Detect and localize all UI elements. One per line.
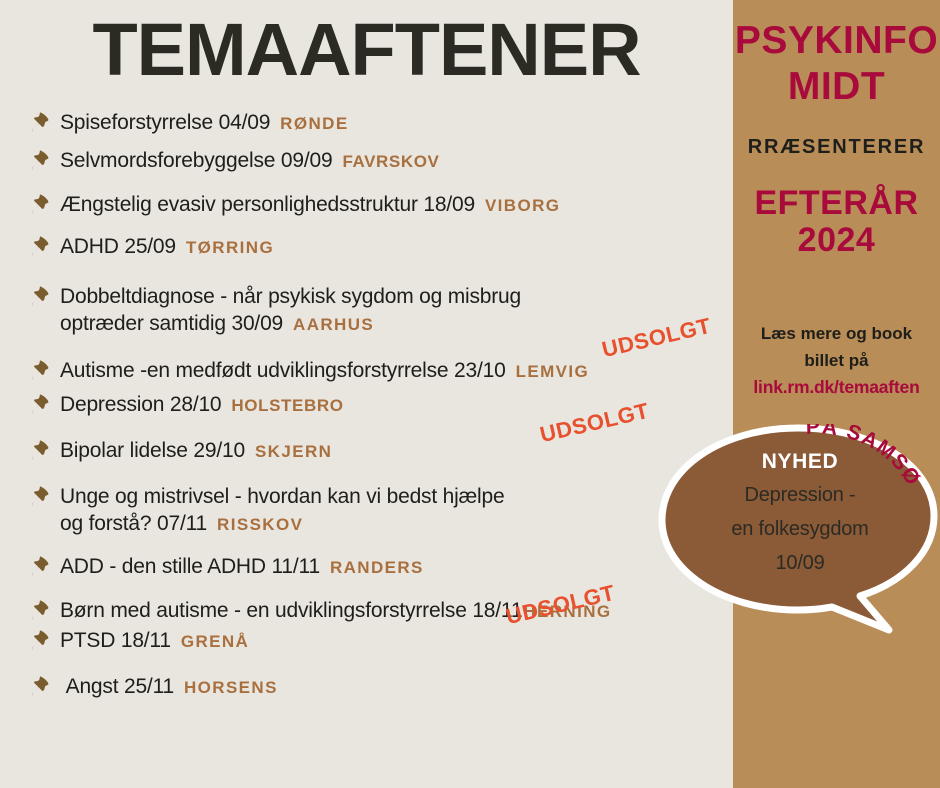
pushpin-icon bbox=[26, 554, 52, 580]
event-title: Autisme -en medfødt udviklingsforstyrrel… bbox=[60, 356, 589, 385]
pushpin-icon bbox=[26, 438, 52, 464]
event-title: ADD - den stille ADHD 11/11RANDERS bbox=[60, 552, 424, 581]
event-city: RØNDE bbox=[280, 114, 348, 133]
event-city: LEMVIG bbox=[516, 362, 590, 381]
event-city: RANDERS bbox=[330, 558, 424, 577]
pushpin-icon bbox=[26, 484, 52, 510]
pushpin-icon bbox=[26, 358, 52, 384]
pushpin-icon bbox=[26, 392, 52, 418]
event-row: Spiseforstyrrelse 04/09RØNDE bbox=[26, 108, 738, 138]
event-city: AARHUS bbox=[293, 315, 374, 334]
event-title: Selvmordsforebyggelse 09/09FAVRSKOV bbox=[60, 146, 440, 175]
pushpin-icon bbox=[26, 628, 52, 654]
event-row: Autisme -en medfødt udviklingsforstyrrel… bbox=[26, 356, 738, 386]
event-city: HOLSTEBRO bbox=[231, 396, 343, 415]
pushpin-icon bbox=[26, 192, 52, 218]
pushpin-icon bbox=[26, 598, 52, 624]
pushpin-icon bbox=[26, 674, 52, 700]
pushpin-icon bbox=[26, 192, 52, 218]
pushpin-icon bbox=[26, 148, 52, 174]
bubble-line-2: en folkesygdom bbox=[694, 512, 906, 546]
pushpin-icon bbox=[26, 284, 52, 310]
event-title: Bipolar lidelse 29/10SKJERN bbox=[60, 436, 332, 465]
booking-link[interactable]: link.rm.dk/temaaften bbox=[741, 374, 932, 401]
page-title: TEMAAFTENER bbox=[0, 8, 733, 92]
pushpin-icon bbox=[26, 148, 52, 174]
bubble-line-3: 10/09 bbox=[694, 546, 906, 580]
season-line-1: EFTERÅR bbox=[733, 185, 940, 222]
event-row: Børn med autisme - en udviklingsforstyrr… bbox=[26, 596, 738, 626]
presents-label: RRÆSENTERER bbox=[733, 136, 940, 159]
event-city: FAVRSKOV bbox=[342, 152, 439, 171]
pushpin-icon bbox=[26, 234, 52, 260]
event-title: Ængstelig evasiv personlighedsstruktur 1… bbox=[60, 190, 560, 219]
pushpin-icon bbox=[26, 392, 52, 418]
event-city: GRENÅ bbox=[181, 632, 249, 651]
booking-info: Læs mere og book billet på link.rm.dk/te… bbox=[741, 320, 932, 401]
brand-name-line-1: PSYKINFO bbox=[733, 20, 940, 62]
pushpin-icon bbox=[26, 438, 52, 464]
event-row: Bipolar lidelse 29/10SKJERN bbox=[26, 436, 738, 466]
booking-line-2: billet på bbox=[804, 351, 868, 370]
sidebar-panel: PSYKINFO MIDT RRÆSENTERER EFTERÅR 2024 L… bbox=[733, 0, 940, 788]
event-row: Unge og mistrivsel - hvordan kan vi beds… bbox=[26, 482, 738, 538]
event-title: Spiseforstyrrelse 04/09RØNDE bbox=[60, 108, 349, 137]
event-city: HORSENS bbox=[184, 678, 278, 697]
event-title: ADHD 25/09TØRRING bbox=[60, 232, 274, 261]
event-city: TØRRING bbox=[186, 238, 274, 257]
pushpin-icon bbox=[26, 628, 52, 654]
event-title: PTSD 18/11GRENÅ bbox=[60, 626, 249, 655]
event-title: Angst 25/11HORSENS bbox=[60, 672, 278, 701]
pushpin-icon bbox=[26, 110, 52, 136]
paa-samsoe-arc-label: PÅ SAMSØ bbox=[800, 424, 940, 504]
event-row: Angst 25/11HORSENS bbox=[26, 672, 738, 702]
svg-text:PÅ SAMSØ: PÅ SAMSØ bbox=[806, 424, 926, 490]
event-city: VIBORG bbox=[485, 196, 560, 215]
pushpin-icon bbox=[26, 598, 52, 624]
pushpin-icon bbox=[26, 484, 52, 510]
event-row: Selvmordsforebyggelse 09/09FAVRSKOV bbox=[26, 146, 738, 176]
event-city: RISSKOV bbox=[217, 515, 303, 534]
event-city: SKJERN bbox=[255, 442, 332, 461]
event-title: Unge og mistrivsel - hvordan kan vi beds… bbox=[60, 482, 504, 538]
event-row: ADD - den stille ADHD 11/11RANDERS bbox=[26, 552, 738, 582]
event-title: Depression 28/10HOLSTEBRO bbox=[60, 390, 344, 419]
booking-line-1: Læs mere og book bbox=[761, 324, 912, 343]
event-title: Dobbeltdiagnose - når psykisk sygdom og … bbox=[60, 282, 521, 338]
pushpin-icon bbox=[26, 284, 52, 310]
poster-canvas: PSYKINFO MIDT RRÆSENTERER EFTERÅR 2024 L… bbox=[0, 0, 940, 788]
pushpin-icon bbox=[26, 554, 52, 580]
pushpin-icon bbox=[26, 110, 52, 136]
event-row: PTSD 18/11GRENÅ bbox=[26, 626, 738, 656]
event-row: ADHD 25/09TØRRING bbox=[26, 232, 738, 262]
brand-name-line-2: MIDT bbox=[733, 66, 940, 108]
pushpin-icon bbox=[26, 234, 52, 260]
pushpin-icon bbox=[26, 674, 52, 700]
season-year: 2024 bbox=[733, 222, 940, 259]
pushpin-icon bbox=[26, 358, 52, 384]
event-row: Ængstelig evasiv personlighedsstruktur 1… bbox=[26, 190, 738, 220]
